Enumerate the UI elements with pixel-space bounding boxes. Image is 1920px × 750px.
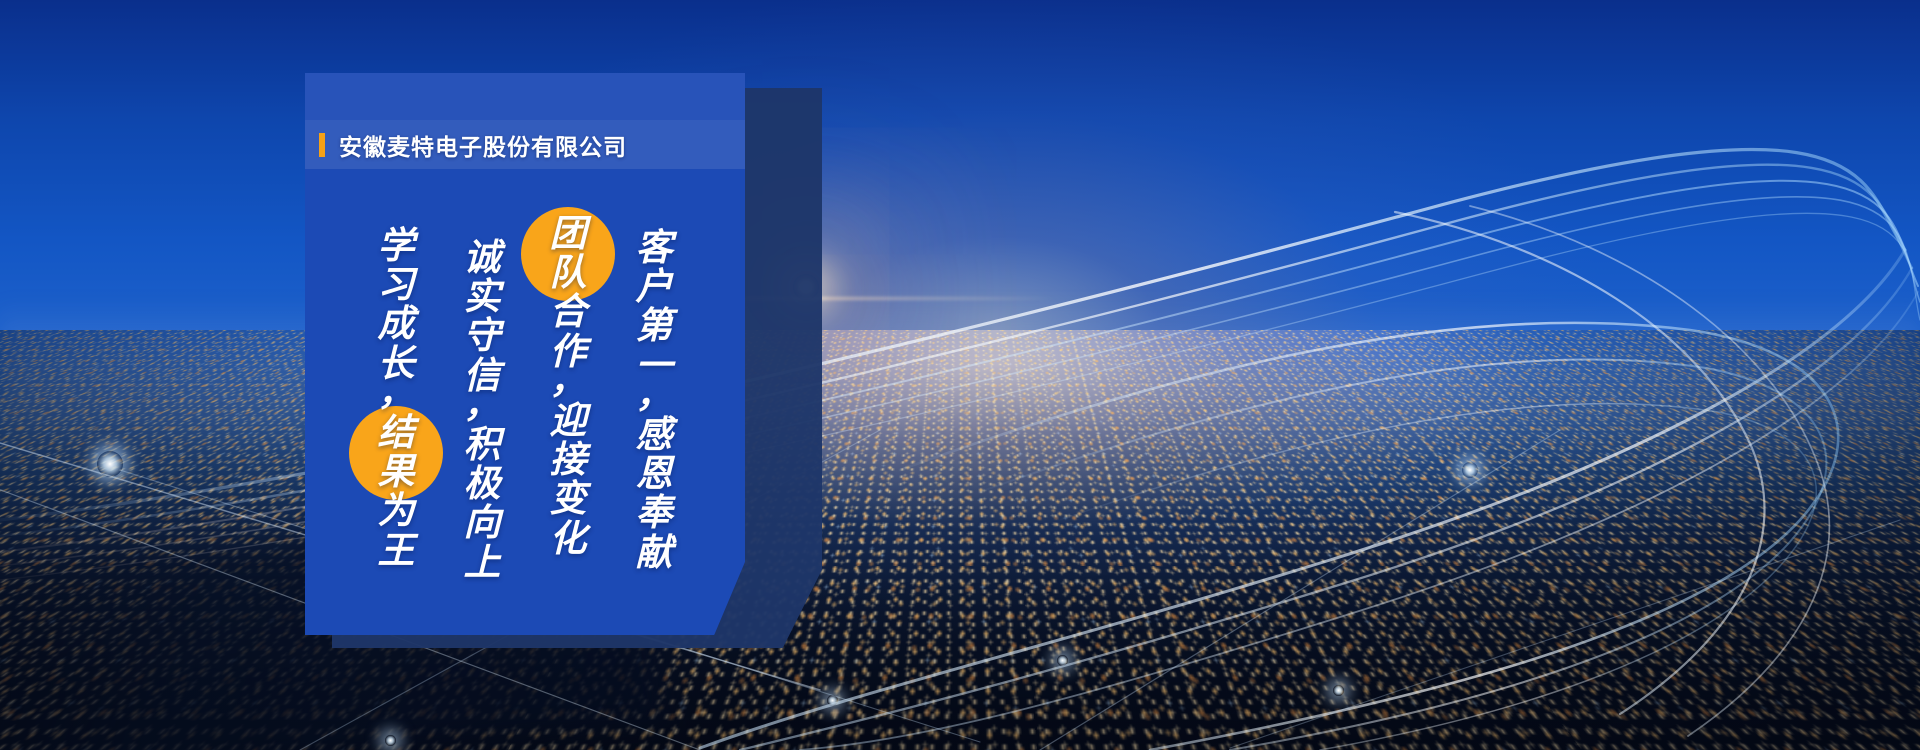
slogan-char: 学	[378, 227, 415, 266]
slogan-char: 成	[378, 305, 415, 344]
slogan-char: 感	[636, 416, 673, 455]
slogan-char: 极	[464, 465, 501, 504]
slogan-customer-first: 客 户 第 一 ， 感 恩 奉 献	[621, 211, 687, 573]
slogan-char: 客	[636, 229, 673, 268]
slogan-char: 第	[636, 307, 673, 346]
slogan-char: 上	[464, 544, 501, 583]
company-name: 安徽麦特电子股份有限公司	[339, 128, 627, 162]
title-accent-bar	[319, 133, 325, 157]
slogan-char: 积	[464, 426, 501, 465]
slogan-char: 为	[378, 492, 415, 531]
slogan-char: 队	[550, 254, 587, 293]
slogan-char: 奉	[636, 494, 673, 533]
slogan-char: 合	[550, 293, 587, 332]
slogan-char: 化	[550, 520, 587, 559]
card-top-band	[305, 73, 745, 120]
slogan-char: 向	[464, 504, 501, 543]
slogan-team-cooperation: 团 队 合 作 ， 迎 接 变 化	[535, 211, 601, 559]
slogan-char: 实	[464, 278, 501, 317]
slogan-char: 习	[378, 266, 415, 305]
slogan-char: 户	[636, 268, 673, 307]
slogan-char: ，	[464, 396, 501, 426]
slogan-char: ，	[378, 384, 415, 414]
slogan-char: ，	[550, 372, 587, 402]
slogan-char: 迎	[550, 402, 587, 441]
slogan-highlight-group: 结 果	[363, 414, 429, 492]
slogan-char: 果	[378, 453, 415, 492]
slogan-char: 恩	[636, 455, 673, 494]
slogan-columns: 客 户 第 一 ， 感 恩 奉 献 团 队 合 作 ， 迎	[305, 211, 745, 631]
city-vignette	[0, 330, 1920, 750]
company-culture-banner: 安徽麦特电子股份有限公司 客 户 第 一 ， 感 恩 奉 献 团 队	[0, 0, 1920, 750]
slogan-learning-growth: 学 习 成 长 ， 结 果 为 王	[363, 211, 429, 571]
slogan-highlight-group: 团 队	[535, 215, 601, 293]
card-title-row: 安徽麦特电子股份有限公司	[305, 120, 745, 169]
slogan-char: 王	[378, 532, 415, 571]
slogan-char: 变	[550, 480, 587, 519]
culture-card: 安徽麦特电子股份有限公司 客 户 第 一 ， 感 恩 奉 献 团 队	[305, 73, 745, 635]
slogan-char: 献	[636, 534, 673, 573]
slogan-honesty-integrity: 诚 实 守 信 ， 积 极 向 上	[449, 211, 515, 583]
slogan-char: 结	[378, 414, 415, 453]
slogan-char: 诚	[464, 239, 501, 278]
slogan-char: 守	[464, 317, 501, 356]
slogan-char: 接	[550, 441, 587, 480]
slogan-char: 团	[550, 215, 587, 254]
slogan-char: ，	[636, 386, 673, 416]
night-cityscape	[0, 330, 1920, 750]
